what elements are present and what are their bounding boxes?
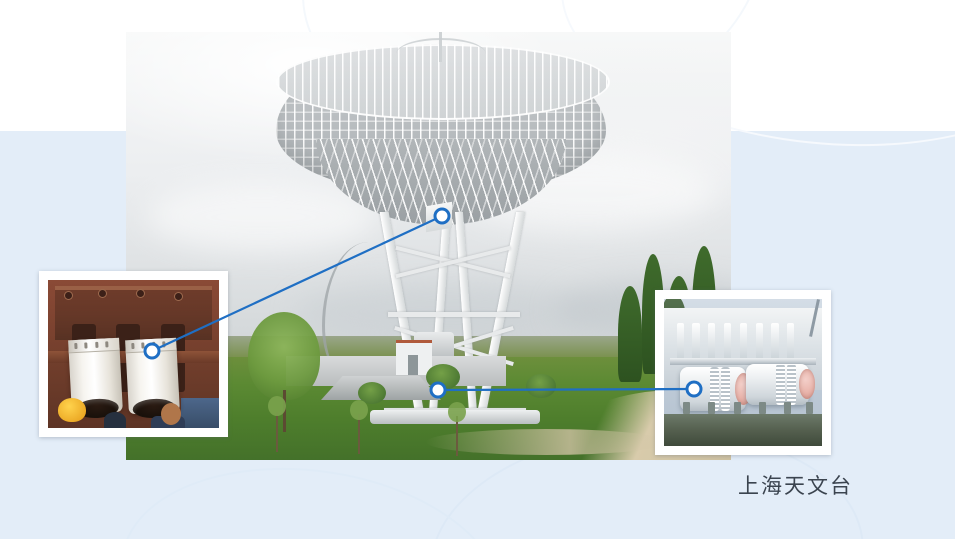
machine-fin — [756, 323, 763, 358]
flange-stud — [141, 343, 144, 349]
flange-stud — [95, 342, 98, 348]
hard-hat — [58, 398, 86, 422]
slide-caption: 上海天文台 — [738, 470, 853, 500]
pink-end-cap-right — [799, 369, 815, 399]
flange-stud — [105, 341, 108, 347]
hut-door — [408, 355, 418, 375]
gravel-path-secondary — [426, 429, 666, 455]
cypress-1 — [618, 286, 642, 382]
cylinder-flange-left — [68, 338, 120, 353]
service-hut — [396, 340, 432, 375]
inset-photo-right[interactable] — [655, 290, 831, 455]
housing-bolt-4 — [175, 293, 182, 300]
machine-fin — [724, 323, 731, 358]
sapling-1 — [276, 412, 278, 452]
machine-fin — [708, 323, 715, 358]
housing-bolt-1 — [65, 292, 72, 299]
willow-tree — [248, 312, 320, 400]
machine-fin — [740, 323, 747, 358]
parabolic-dish — [276, 44, 606, 219]
sapling-2 — [358, 414, 360, 454]
sapling-top-2 — [350, 400, 368, 420]
anchor-foot — [734, 402, 741, 414]
drum-ring — [721, 367, 730, 411]
tower-brace-3 — [388, 312, 520, 317]
worker-silhouette-1 — [104, 412, 126, 428]
drum-assembly-right — [746, 364, 809, 405]
concrete-foundation — [664, 414, 822, 446]
blue-tarp — [181, 398, 219, 428]
anchor-foot — [708, 402, 715, 414]
shrub-1 — [426, 364, 460, 390]
inset-photo-right-image — [664, 299, 822, 446]
inset-photo-left[interactable] — [39, 271, 228, 437]
feed-support-legs — [396, 38, 486, 70]
flange-stud — [75, 343, 78, 349]
anchor-foot — [683, 402, 690, 414]
anchor-foot — [806, 402, 813, 414]
machine-fin — [787, 323, 794, 358]
flange-stud — [85, 343, 88, 349]
flange-stud — [162, 341, 165, 347]
flange-stud — [131, 343, 134, 349]
anchor-foot — [784, 402, 791, 414]
shrub-3 — [526, 374, 556, 398]
drum-ring — [787, 364, 796, 405]
refurbished-machinery-scene — [664, 299, 822, 446]
sapling-top-1 — [268, 396, 286, 416]
drum-ring — [776, 364, 785, 405]
machine-fin — [677, 323, 684, 358]
anchor-foot — [759, 402, 766, 414]
flange-stud — [152, 342, 155, 348]
machine-fin — [771, 323, 778, 358]
rusty-machinery-scene — [48, 280, 219, 428]
slide-canvas: 上海天文台 — [0, 0, 955, 539]
elevation-drive-housing — [426, 202, 452, 233]
machine-fin — [692, 323, 699, 358]
cylinder-flange-right — [125, 338, 177, 353]
sapling-3 — [456, 416, 458, 456]
inset-photo-left-image — [48, 280, 219, 428]
sapling-top-3 — [448, 402, 466, 422]
worker-head — [161, 403, 181, 425]
